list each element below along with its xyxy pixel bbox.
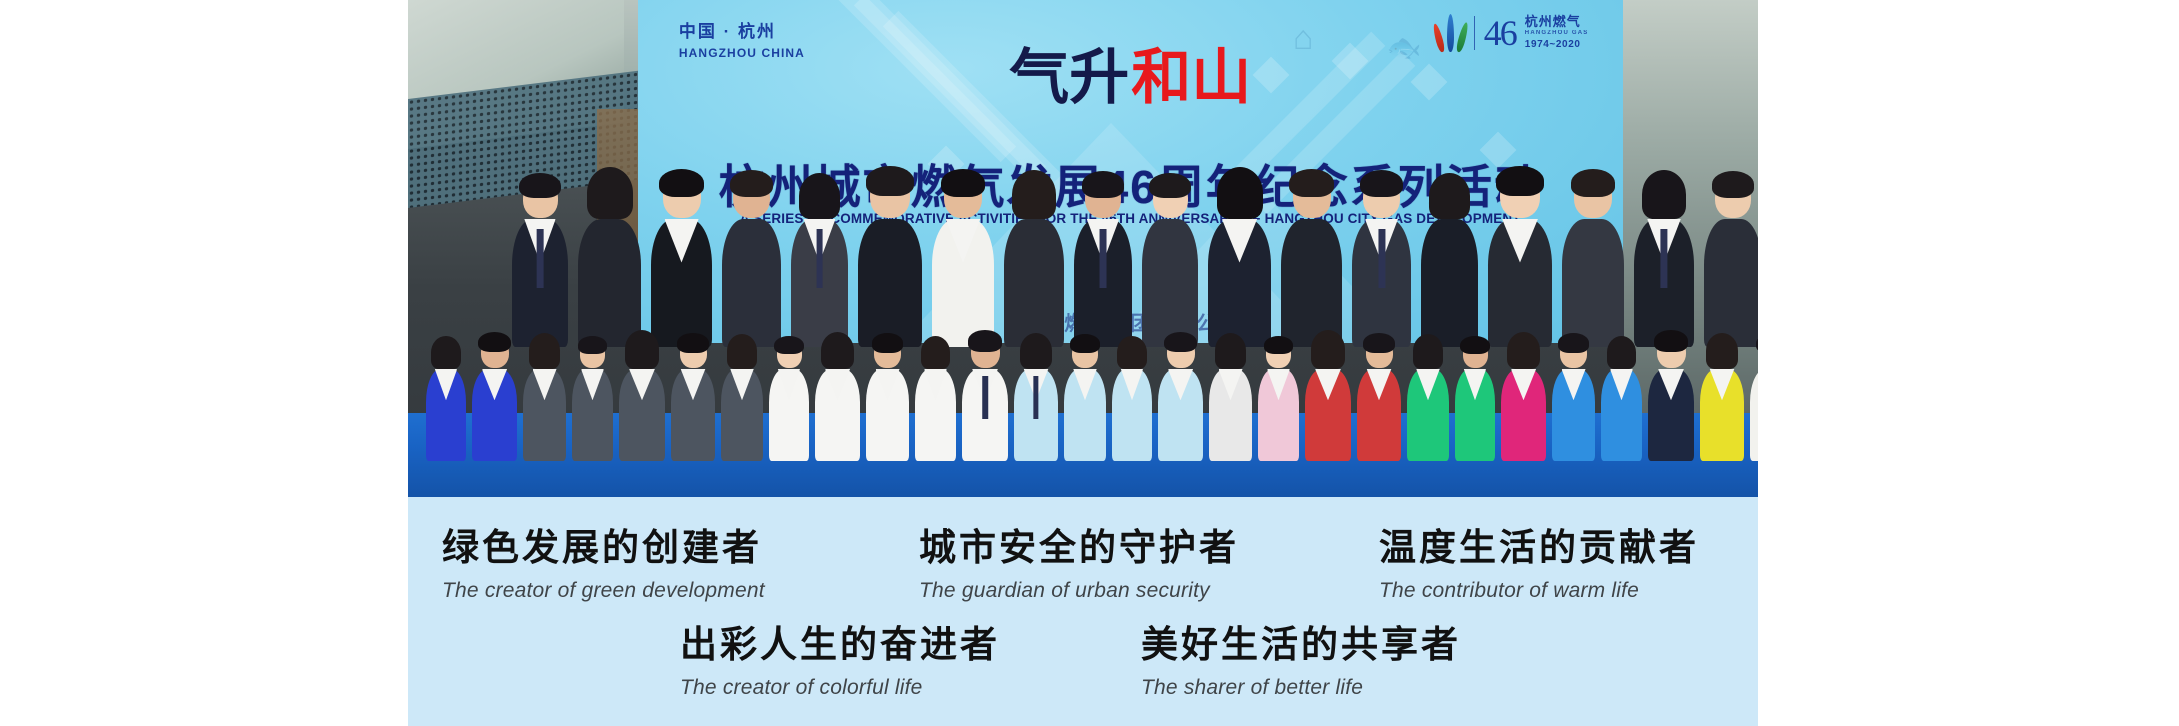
person-head bbox=[1574, 175, 1612, 218]
person-head bbox=[481, 337, 509, 368]
person bbox=[866, 338, 909, 461]
person-hair bbox=[1571, 169, 1616, 197]
person-head bbox=[1709, 338, 1736, 368]
person bbox=[1158, 337, 1203, 461]
person-head bbox=[1646, 177, 1683, 218]
person-body bbox=[1281, 219, 1342, 347]
person-hair bbox=[529, 333, 561, 369]
person-body bbox=[1501, 369, 1546, 461]
person-body bbox=[1357, 369, 1401, 461]
person bbox=[1305, 336, 1351, 461]
person-body bbox=[1208, 219, 1271, 347]
person-body bbox=[1750, 369, 1758, 461]
person-head bbox=[971, 336, 1000, 368]
person-body bbox=[1004, 219, 1064, 347]
person-hair bbox=[1642, 170, 1686, 219]
person bbox=[1014, 338, 1058, 461]
person-hair bbox=[1117, 336, 1147, 369]
slogan-urban-security: 城市安全的守护者 The guardian of urban security bbox=[919, 526, 1239, 605]
person-collar bbox=[1658, 369, 1684, 400]
person bbox=[1704, 178, 1758, 347]
person-body bbox=[512, 219, 568, 347]
person-hair bbox=[587, 167, 633, 219]
person-body bbox=[858, 219, 922, 347]
person-collar bbox=[730, 369, 754, 400]
person bbox=[1648, 336, 1694, 461]
person bbox=[815, 337, 860, 461]
person-hair bbox=[1217, 167, 1263, 219]
person-hair bbox=[659, 169, 704, 197]
person-head bbox=[1463, 340, 1488, 368]
person bbox=[1601, 340, 1642, 461]
person-hair bbox=[1070, 334, 1101, 353]
person-body bbox=[1209, 369, 1252, 461]
person bbox=[769, 340, 809, 461]
person-body bbox=[578, 219, 641, 347]
person-head bbox=[1016, 177, 1053, 218]
person-collar bbox=[681, 369, 706, 400]
group-photo: ⌂ 🐟 中国 · 杭州 HANGZHOU CHINA 46 杭州燃气 HANGZ… bbox=[408, 0, 1758, 497]
person bbox=[578, 174, 641, 347]
person bbox=[1281, 175, 1342, 347]
person-body bbox=[1634, 219, 1694, 347]
person-hair bbox=[1413, 334, 1444, 368]
person-collar bbox=[532, 369, 556, 400]
person-body bbox=[523, 369, 566, 461]
slogan-en: The guardian of urban security bbox=[919, 576, 1239, 605]
person-head bbox=[523, 179, 558, 218]
person-body bbox=[769, 369, 809, 461]
person-hair bbox=[727, 334, 758, 368]
person-body bbox=[915, 369, 956, 461]
person-hair bbox=[1363, 333, 1395, 353]
person bbox=[1421, 179, 1478, 347]
person-hair bbox=[1429, 173, 1470, 219]
person-head bbox=[1560, 338, 1587, 368]
person-collar bbox=[924, 369, 947, 400]
person-head bbox=[1366, 338, 1393, 368]
slogan-en: The sharer of better life bbox=[1141, 673, 1461, 702]
person-head bbox=[870, 173, 910, 218]
person-head bbox=[1363, 177, 1400, 218]
person-hair bbox=[1712, 171, 1754, 198]
person-head bbox=[628, 336, 657, 368]
person-collar bbox=[946, 219, 981, 263]
person-body bbox=[1700, 369, 1744, 461]
person-hair bbox=[1264, 336, 1294, 354]
person bbox=[1208, 174, 1271, 347]
person bbox=[1112, 340, 1152, 461]
person-collar bbox=[1511, 369, 1536, 400]
person-head bbox=[824, 337, 852, 368]
person-body bbox=[1601, 369, 1642, 461]
person-head bbox=[1500, 173, 1540, 218]
person-head bbox=[923, 340, 948, 368]
person-collar bbox=[1218, 369, 1242, 400]
person-body bbox=[1074, 219, 1132, 347]
person bbox=[722, 177, 781, 347]
person-hair bbox=[1082, 171, 1124, 198]
person bbox=[1258, 340, 1299, 461]
person bbox=[932, 175, 994, 347]
person-body bbox=[1158, 369, 1203, 461]
person bbox=[1352, 177, 1411, 347]
person-tie bbox=[1033, 376, 1038, 418]
person bbox=[962, 336, 1008, 461]
person-collar bbox=[1416, 369, 1440, 400]
person-hair bbox=[799, 173, 840, 219]
person-hair bbox=[941, 169, 986, 197]
person bbox=[1750, 339, 1758, 461]
person-body bbox=[1455, 369, 1495, 461]
person-collar bbox=[1222, 219, 1257, 263]
person-collar bbox=[664, 219, 698, 263]
crowd bbox=[408, 0, 1758, 497]
person-body bbox=[472, 369, 517, 461]
slogan-better-life: 美好生活的共享者 The sharer of better life bbox=[1141, 623, 1461, 702]
person bbox=[1501, 337, 1546, 461]
slogan-cn: 出彩人生的奋进者 bbox=[680, 623, 1000, 667]
person-collar bbox=[581, 369, 604, 400]
person-body bbox=[651, 219, 712, 347]
person-collar bbox=[1121, 369, 1143, 400]
person-body bbox=[866, 369, 909, 461]
person-tie bbox=[1378, 229, 1385, 288]
slogan-en: The creator of green development bbox=[442, 576, 765, 605]
person bbox=[472, 337, 517, 461]
person-hair bbox=[1558, 333, 1590, 353]
person-body bbox=[932, 219, 994, 347]
person-head bbox=[777, 340, 802, 368]
person-collar bbox=[1561, 369, 1585, 400]
person-hair bbox=[1507, 332, 1540, 369]
person bbox=[858, 173, 922, 347]
person-head bbox=[1715, 178, 1751, 218]
person-collar bbox=[1315, 369, 1341, 400]
person-hair bbox=[478, 332, 511, 353]
slogan-warm-life: 温度生活的贡献者 The contributor of warm life bbox=[1379, 526, 1699, 605]
person-hair bbox=[1164, 332, 1197, 353]
person-collar bbox=[482, 369, 507, 400]
person-hair bbox=[1012, 170, 1056, 219]
person-head bbox=[1293, 175, 1331, 218]
person bbox=[1064, 339, 1106, 461]
person-hair bbox=[1654, 330, 1688, 351]
person-head bbox=[531, 338, 558, 368]
person-hair bbox=[1289, 169, 1334, 197]
person bbox=[1209, 338, 1252, 461]
person-head bbox=[663, 175, 701, 218]
person-collar bbox=[1168, 369, 1193, 400]
person-hair bbox=[625, 330, 659, 368]
person-hair bbox=[1311, 330, 1345, 368]
person bbox=[572, 340, 613, 461]
person-body bbox=[791, 219, 848, 347]
person-head bbox=[1609, 340, 1634, 368]
person-hair bbox=[872, 333, 904, 353]
person-head bbox=[802, 179, 837, 218]
person bbox=[1488, 173, 1552, 347]
person-body bbox=[1142, 219, 1198, 347]
person-body bbox=[1064, 369, 1106, 461]
person-tie bbox=[982, 376, 988, 418]
person-body bbox=[1488, 219, 1552, 347]
person-body bbox=[426, 369, 466, 461]
person bbox=[523, 338, 566, 461]
person-head bbox=[434, 340, 459, 368]
slogan-cn: 美好生活的共享者 bbox=[1141, 623, 1461, 667]
person-head bbox=[1085, 178, 1121, 218]
person-collar bbox=[1710, 369, 1735, 400]
person-hair bbox=[1215, 333, 1247, 369]
person-head bbox=[1266, 340, 1291, 368]
person bbox=[1074, 178, 1132, 347]
person-head bbox=[1023, 338, 1050, 368]
person-hair bbox=[1496, 166, 1543, 196]
person-head bbox=[944, 175, 982, 218]
person-head bbox=[1120, 340, 1145, 368]
person-body bbox=[721, 369, 763, 461]
person-hair bbox=[1149, 173, 1190, 199]
person-head bbox=[1314, 336, 1343, 368]
person-body bbox=[671, 369, 715, 461]
person-collar bbox=[629, 369, 655, 400]
person bbox=[512, 179, 568, 347]
person-tie bbox=[1100, 229, 1107, 288]
person-tie bbox=[537, 229, 544, 288]
person-collar bbox=[1502, 219, 1538, 263]
person bbox=[721, 339, 763, 461]
person-head bbox=[680, 338, 707, 368]
person-head bbox=[590, 174, 629, 218]
person-body bbox=[1704, 219, 1758, 347]
person-head bbox=[1432, 179, 1467, 218]
person-hair bbox=[774, 336, 804, 354]
person-head bbox=[580, 340, 605, 368]
person-body bbox=[1014, 369, 1058, 461]
person-tie bbox=[1660, 229, 1667, 288]
person bbox=[1700, 338, 1744, 461]
person bbox=[1552, 338, 1595, 461]
person-body bbox=[722, 219, 781, 347]
person-hair bbox=[578, 336, 608, 354]
person-head bbox=[1415, 339, 1441, 368]
person-collar bbox=[875, 369, 899, 400]
person-hair bbox=[921, 336, 951, 369]
person bbox=[426, 340, 466, 461]
person-hair bbox=[866, 166, 913, 196]
person-hair bbox=[1706, 333, 1738, 369]
person-collar bbox=[825, 369, 850, 400]
person-body bbox=[815, 369, 860, 461]
person bbox=[619, 336, 665, 461]
person-collar bbox=[1267, 369, 1290, 400]
poster-stage: ⌂ 🐟 中国 · 杭州 HANGZHOU CHINA 46 杭州燃气 HANGZ… bbox=[0, 0, 2179, 726]
person-collar bbox=[1464, 369, 1486, 400]
slogan-cn: 城市安全的守护者 bbox=[919, 526, 1239, 570]
person-hair bbox=[1460, 336, 1490, 354]
person-head bbox=[874, 338, 901, 368]
person-hair bbox=[821, 332, 854, 369]
slogan-en: The contributor of warm life bbox=[1379, 576, 1699, 605]
person-body bbox=[1552, 369, 1595, 461]
slogan-cn: 绿色发展的创建者 bbox=[442, 526, 765, 570]
person-body bbox=[1648, 369, 1694, 461]
person-collar bbox=[435, 369, 457, 400]
person bbox=[915, 340, 956, 461]
person bbox=[1455, 340, 1495, 461]
person-body bbox=[1305, 369, 1351, 461]
person-body bbox=[619, 369, 665, 461]
person-hair bbox=[730, 170, 774, 197]
person bbox=[1357, 338, 1401, 461]
person-head bbox=[1167, 337, 1195, 368]
person-collar bbox=[1610, 369, 1633, 400]
person-head bbox=[1153, 179, 1188, 218]
person-body bbox=[1407, 369, 1449, 461]
person-hair bbox=[1360, 170, 1404, 197]
person bbox=[651, 175, 712, 347]
person-hair bbox=[1020, 333, 1052, 369]
person-head bbox=[733, 177, 770, 218]
person-hair bbox=[519, 173, 560, 199]
person-body bbox=[572, 369, 613, 461]
person-body bbox=[1258, 369, 1299, 461]
person-collar bbox=[1073, 369, 1097, 400]
person-body bbox=[1562, 219, 1624, 347]
person-body bbox=[1352, 219, 1411, 347]
person-body bbox=[1112, 369, 1152, 461]
slogan-en: The creator of colorful life bbox=[680, 673, 1000, 702]
person bbox=[1004, 177, 1064, 347]
person-head bbox=[1220, 174, 1259, 218]
person-body bbox=[1421, 219, 1478, 347]
person-hair bbox=[677, 333, 709, 353]
slogan-group: 绿色发展的创建者 The creator of green developmen… bbox=[408, 497, 1758, 726]
person-head bbox=[1657, 336, 1686, 368]
person-tie bbox=[816, 229, 823, 288]
person bbox=[1634, 177, 1694, 347]
person-hair bbox=[1607, 336, 1637, 369]
person-head bbox=[1217, 338, 1244, 368]
person bbox=[1142, 179, 1198, 347]
person-collar bbox=[778, 369, 800, 400]
slogan-colorful-life: 出彩人生的奋进者 The creator of colorful life bbox=[680, 623, 1000, 702]
person bbox=[1562, 175, 1624, 347]
person bbox=[1407, 339, 1449, 461]
slogan-cn: 温度生活的贡献者 bbox=[1379, 526, 1699, 570]
person-hair bbox=[431, 336, 461, 369]
person-head bbox=[1510, 337, 1538, 368]
person-collar bbox=[1367, 369, 1392, 400]
slogan-green-development: 绿色发展的创建者 The creator of green developmen… bbox=[442, 526, 765, 605]
person bbox=[791, 179, 848, 347]
person-hair bbox=[968, 330, 1002, 351]
person-body bbox=[962, 369, 1008, 461]
person-head bbox=[729, 339, 755, 368]
person-head bbox=[1072, 339, 1098, 368]
person bbox=[671, 338, 715, 461]
